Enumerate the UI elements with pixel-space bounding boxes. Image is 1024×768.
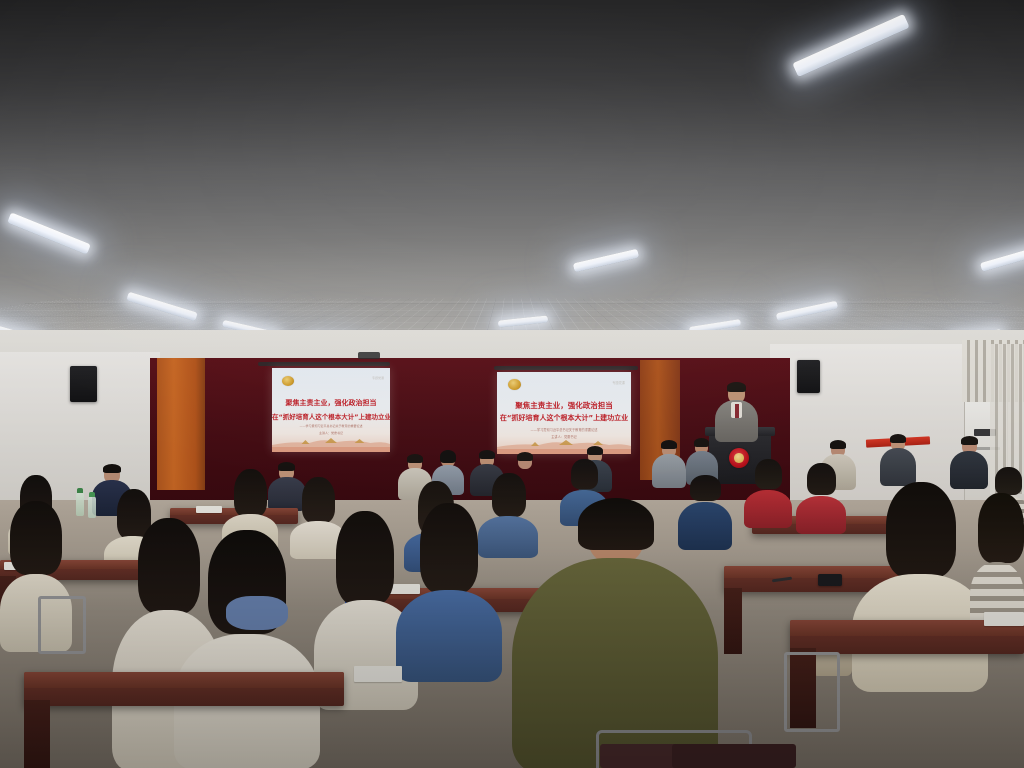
slide-surface-left: 专题党课 聚焦主责主业，强化政治担当 在“抓好培育人这个根本大计”上建功立业 —… bbox=[272, 368, 390, 452]
mobile-phone[interactable] bbox=[818, 574, 842, 586]
slide-subtitle-line1-left: ——学习贯彻习近平总书记关于教育的重要论述 bbox=[272, 424, 390, 428]
attendee-hair bbox=[890, 434, 906, 443]
attendee-hair bbox=[587, 446, 603, 455]
party-emblem-icon bbox=[282, 376, 294, 386]
attendee-front-4 bbox=[396, 508, 502, 658]
attendee-mid-10 bbox=[796, 466, 846, 532]
attendee-hair bbox=[995, 467, 1022, 495]
conference-hall-photo: 专题党课 聚焦主责主业，强化政治担当 在“抓好培育人这个根本大计”上建功立业 —… bbox=[0, 0, 1024, 768]
presenter bbox=[714, 384, 758, 440]
slide-surface-right: 专题党课 聚焦主责主业，强化政治担当 在“抓好培育人这个根本大计”上建功立业 —… bbox=[497, 372, 631, 454]
slide-corner-mark-right: 专题党课 bbox=[612, 380, 625, 385]
party-emblem-icon bbox=[508, 379, 521, 390]
attendee-mid-9 bbox=[744, 462, 792, 526]
slide-corner-mark-left: 专题党课 bbox=[372, 376, 384, 380]
chair-left[interactable] bbox=[38, 596, 86, 654]
projection-screen-right: 专题党课 聚焦主责主业，强化政治担当 在“抓好培育人这个根本大计”上建功立业 —… bbox=[497, 372, 631, 454]
bottle-cap bbox=[89, 492, 95, 497]
attendee-torso bbox=[880, 448, 916, 486]
attendee-long-hair bbox=[886, 482, 956, 578]
attendee-torso bbox=[796, 496, 846, 534]
paper-sheet bbox=[984, 612, 1024, 626]
projection-screen-left: 专题党课 聚焦主责主业，强化政治担当 在“抓好培育人这个根本大计”上建功立业 —… bbox=[272, 368, 390, 452]
attendee-back-12 bbox=[950, 438, 988, 486]
attendee-hair bbox=[278, 462, 295, 471]
attendee-torso bbox=[396, 590, 502, 682]
screen-rail-left bbox=[258, 362, 390, 366]
chair-seat-right-back[interactable] bbox=[672, 744, 796, 768]
attendee-hair bbox=[661, 440, 677, 449]
desk-leg-panel bbox=[724, 588, 742, 654]
slide-skyline-illustration bbox=[272, 430, 390, 452]
desk-surface bbox=[24, 672, 344, 688]
presenter-hair bbox=[727, 382, 746, 392]
attendee-hair bbox=[407, 454, 423, 463]
attendee-hair bbox=[103, 464, 121, 473]
attendee-long-hair bbox=[420, 503, 478, 593]
wall-speaker-left bbox=[70, 366, 97, 402]
attendee-long-hair bbox=[336, 511, 394, 605]
attendee-hair bbox=[830, 440, 846, 449]
attendee-back-11 bbox=[880, 436, 916, 484]
hair-bow bbox=[226, 596, 288, 630]
attendee-hair bbox=[694, 438, 709, 447]
wall-speaker-right bbox=[797, 360, 820, 393]
attendee-hair bbox=[571, 459, 598, 489]
desk-row1-left bbox=[24, 672, 344, 706]
water-bottle bbox=[76, 492, 84, 516]
attendee-front-6 bbox=[852, 488, 988, 688]
wood-wall-panel-left bbox=[157, 358, 205, 490]
paper-sheet bbox=[354, 666, 402, 682]
bottle-cap bbox=[77, 488, 83, 493]
attendee-long-hair bbox=[10, 501, 62, 575]
attendee-hair bbox=[479, 450, 495, 459]
attendee-front-5 bbox=[512, 506, 718, 768]
attendee-hair bbox=[578, 498, 654, 550]
attendee-hair bbox=[517, 452, 533, 461]
ceiling-projector-mount bbox=[358, 352, 380, 359]
slide-title-line2-left: 在“抓好培育人这个根本大计”上建功立业 bbox=[272, 411, 390, 421]
slide-title-line2-right: 在“抓好培育人这个根本大计”上建功立业 bbox=[497, 413, 631, 423]
attendee-front-2 bbox=[174, 530, 320, 768]
attendee-hair bbox=[690, 475, 721, 501]
paper-sheet bbox=[196, 506, 222, 513]
attendee-front-7 bbox=[970, 498, 1024, 628]
chair-right[interactable] bbox=[784, 652, 840, 732]
attendee-hair bbox=[440, 450, 456, 463]
slide-title-line1-left: 聚焦主责主业，强化政治担当 bbox=[272, 398, 390, 408]
attendee-torso bbox=[950, 451, 988, 489]
attendee-long-hair bbox=[978, 493, 1024, 563]
attendee-hair bbox=[961, 436, 978, 445]
slide-title-line1-right: 聚焦主责主业，强化政治担当 bbox=[497, 400, 631, 411]
attendee-hair bbox=[807, 463, 836, 495]
screen-rail-right bbox=[494, 366, 638, 370]
desk-leg-panel bbox=[24, 700, 50, 768]
attendee-long-hair bbox=[234, 469, 267, 517]
attendee-torso bbox=[744, 490, 792, 528]
presenter-tie bbox=[735, 404, 739, 418]
water-bottle bbox=[88, 496, 96, 518]
attendee-hair bbox=[755, 459, 782, 489]
